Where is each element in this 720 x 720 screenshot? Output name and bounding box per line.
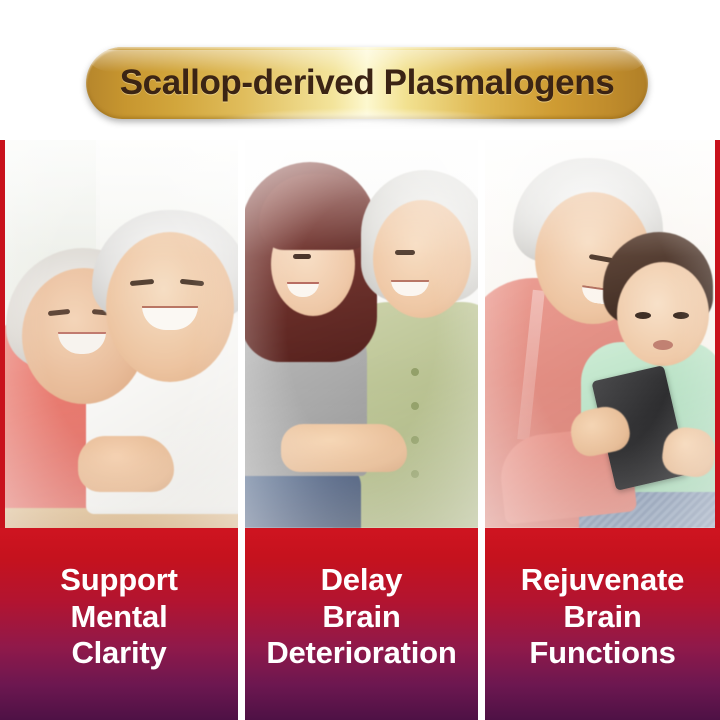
promo-banner: Scallop-derived Plasmalogens [0, 0, 720, 720]
scene-2 [245, 140, 478, 528]
photo-strip [0, 140, 720, 528]
claim-line: Functions [521, 635, 684, 672]
claim-line: Brain [521, 599, 684, 636]
toddler-eye-right [673, 312, 689, 319]
claim-line: Clarity [60, 635, 177, 672]
photo-grandfather-toddler [485, 140, 720, 528]
cardigan-buttons [411, 368, 419, 498]
photo-caregiver-senior [245, 140, 478, 528]
claim-rejuvenate-brain-functions: Rejuvenate Brain Functions [485, 528, 720, 720]
toddler-mouth [653, 340, 673, 350]
senior-woman-eye [395, 250, 415, 255]
claim-divider-2 [478, 528, 485, 720]
edge-accent-left [0, 140, 5, 528]
claim-text-3: Rejuvenate Brain Functions [521, 562, 684, 686]
claim-line: Mental [60, 599, 177, 636]
senior-woman-face [373, 200, 471, 318]
claims-strip: Support Mental Clarity Delay Brain Deter… [0, 528, 720, 720]
held-hands [281, 424, 407, 472]
claim-line: Support [60, 562, 177, 599]
young-woman-bangs [259, 174, 371, 250]
clasped-hands [78, 436, 174, 492]
toddler-eye-left [635, 312, 651, 319]
scene-3 [485, 140, 720, 528]
young-woman-eye [293, 254, 311, 259]
gold-title-pill: Scallop-derived Plasmalogens [86, 47, 648, 119]
claim-text-2: Delay Brain Deterioration [266, 562, 456, 686]
panel-divider-1 [238, 140, 245, 528]
toddler-face [617, 262, 709, 366]
edge-accent-right [715, 140, 720, 528]
claim-delay-brain-deterioration: Delay Brain Deterioration [245, 528, 478, 720]
page-title: Scallop-derived Plasmalogens [120, 63, 615, 103]
claim-text-1: Support Mental Clarity [60, 562, 177, 686]
header-zone: Scallop-derived Plasmalogens [0, 0, 720, 140]
claim-line: Rejuvenate [521, 562, 684, 599]
scene-1 [0, 140, 238, 528]
claim-divider-1 [238, 528, 245, 720]
photo-elderly-couple [0, 140, 238, 528]
claim-line: Delay [266, 562, 456, 599]
claim-line: Deterioration [266, 635, 456, 672]
panel-divider-2 [478, 140, 485, 528]
claim-support-mental-clarity: Support Mental Clarity [0, 528, 238, 720]
claim-line: Brain [266, 599, 456, 636]
